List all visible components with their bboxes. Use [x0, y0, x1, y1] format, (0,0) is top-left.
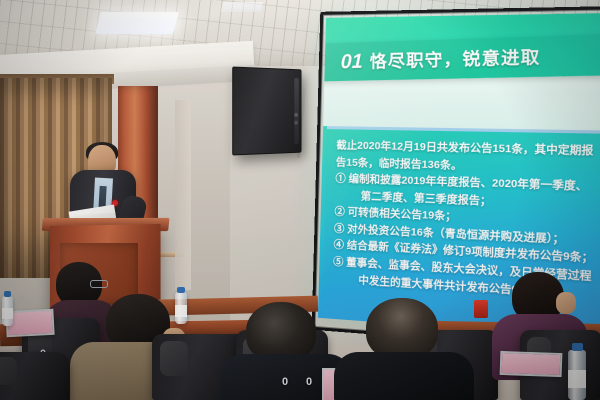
conference-room-photo: 01恪尽职守，锐意进取 截止2020年12月19日共发布公告151条，其中定期报…: [0, 0, 600, 400]
tv-side-edge: [294, 78, 299, 144]
red-cup: [474, 300, 488, 318]
attendee-body: [334, 352, 474, 400]
attendee-head: [246, 302, 316, 362]
attendee-head: [366, 298, 438, 360]
glasses-icon: [90, 280, 108, 288]
name-placard: [500, 351, 563, 377]
bottle-cap: [177, 287, 185, 293]
bottle-label: [175, 305, 187, 317]
wall-mounted-display: [232, 67, 301, 156]
slide-title-text: 恪尽职守，锐意进取: [370, 47, 541, 71]
wall-column: [175, 100, 191, 290]
seat-number: 0: [282, 376, 288, 388]
water-bottle: [175, 292, 187, 324]
bottle-cap: [572, 343, 583, 351]
seat-number: 0: [306, 376, 312, 388]
ceiling-light-panel-secondary: [221, 2, 264, 12]
tv-led-icon: [294, 121, 298, 125]
bottle-label: [568, 370, 586, 388]
chair: [0, 352, 70, 400]
tv-sensor-icon: [294, 113, 298, 117]
bottle-cap: [4, 291, 11, 297]
ceiling-light-panel: [95, 12, 179, 34]
attendee-face: [556, 292, 576, 314]
slide-white-band: [323, 74, 600, 131]
bottle-label: [2, 308, 13, 319]
chair-highlight: [160, 341, 189, 377]
water-bottle: [2, 296, 13, 326]
water-bottle: [568, 350, 586, 400]
chair-highlight: [0, 357, 17, 385]
slide-title-number: 01: [341, 51, 363, 74]
